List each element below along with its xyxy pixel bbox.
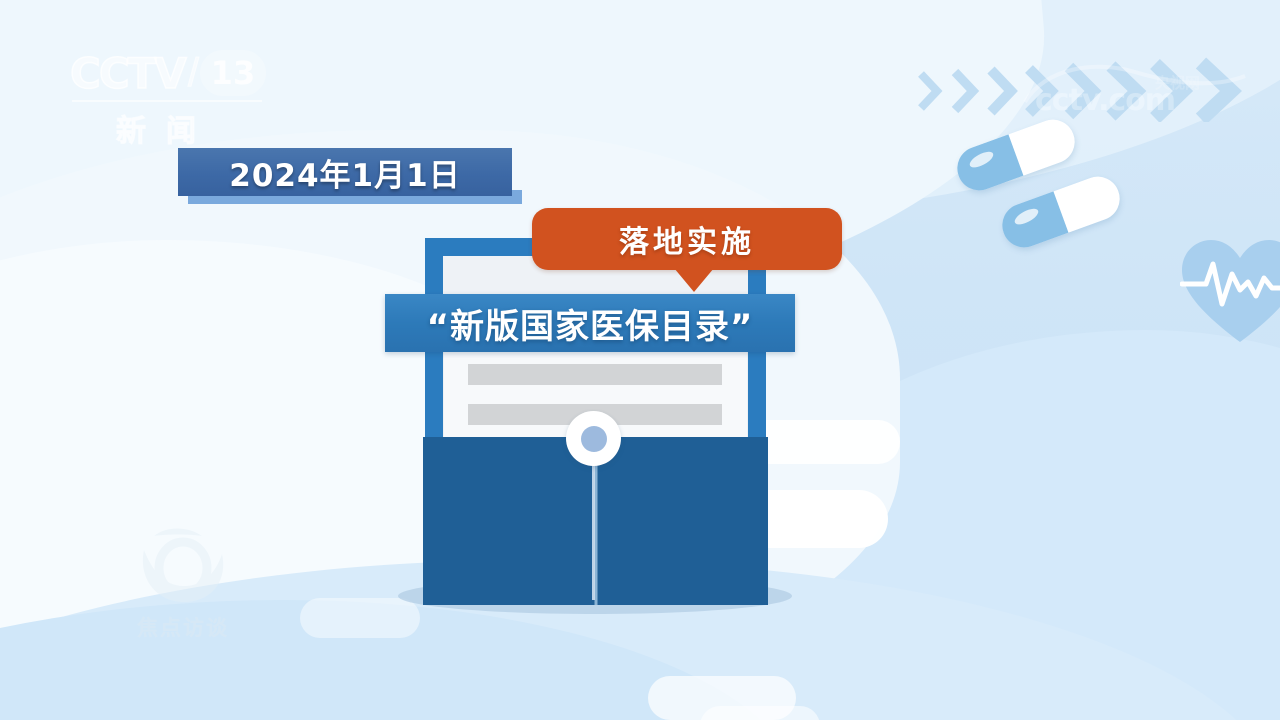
jiaodianfangtan-logo-icon [108,520,258,620]
cctv-logo-slash: / [188,51,199,96]
cctv-wordmark: CCTV [70,49,185,98]
implementation-badge: 落地实施 [532,208,842,270]
implementation-badge-text: 落地实施 [619,217,755,261]
decor-bar-5 [300,598,420,638]
main-headline-text: “新版国家医保目录” [427,299,754,348]
jiaodianfangtan-watermark: 焦点访谈 [108,520,258,650]
cctv-channel-number: 13 [200,50,266,96]
cctv-logo-underline [72,100,262,102]
decor-bar-4 [700,706,820,720]
cctv-com-watermark: cctv.com 央视网 [1015,58,1255,122]
main-headline-banner: “新版国家医保目录” [385,294,795,352]
cctv-13-logo: CCTV / 13 新闻 [70,48,270,144]
date-banner: 2024年1月1日 [178,148,512,196]
briefcase-clasp [566,411,621,466]
heart-shape [1182,240,1280,342]
heart-ecg-icon [1180,238,1280,350]
cctv-program-type: 新闻 [116,106,216,150]
cctv-com-sub: 央视网 [1155,74,1200,92]
document-text-line [468,364,722,385]
briefcase-clasp-center [581,426,607,452]
implementation-badge-tail [674,268,714,292]
date-banner-text: 2024年1月1日 [229,150,460,195]
broadcast-frame: cctv.com 央视网 CCTV / 13 新闻 焦点访谈 2024年1月1日 [0,0,1280,720]
jiaodianfangtan-text: 焦点访谈 [108,612,258,642]
